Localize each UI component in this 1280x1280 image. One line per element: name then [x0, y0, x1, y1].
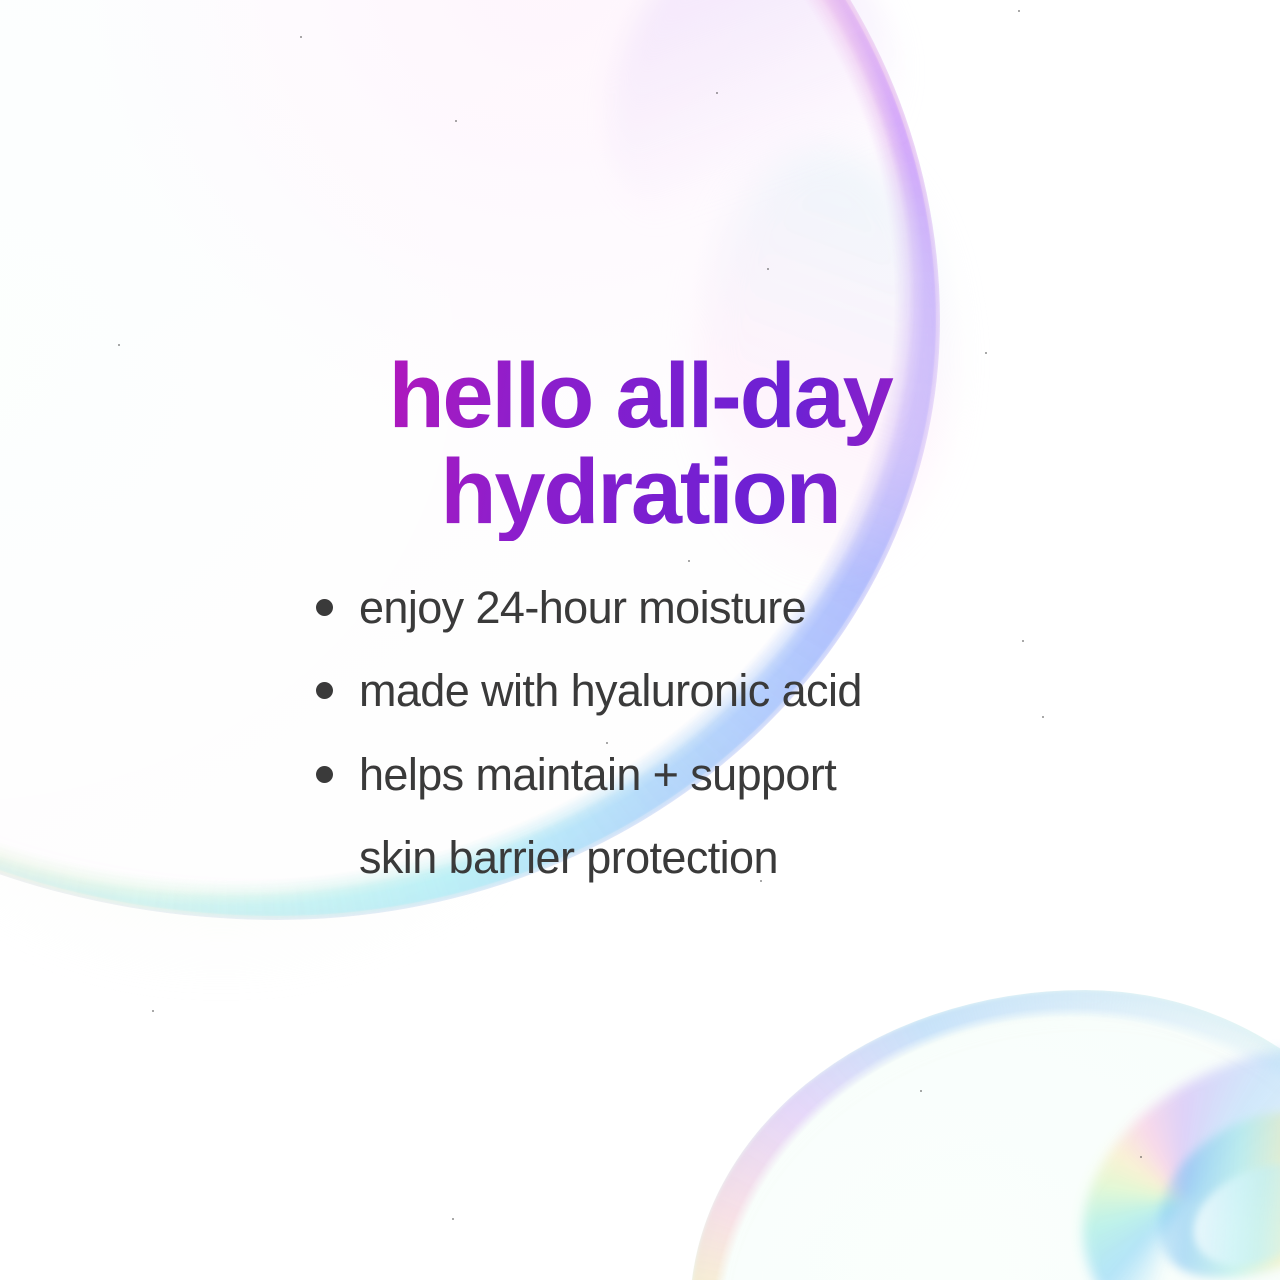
benefit-label: made with hyaluronic acid — [359, 661, 862, 721]
benefit-label: enjoy 24-hour moisture — [359, 578, 806, 638]
benefit-label-continuation: skin barrier protection — [359, 828, 778, 888]
list-item: enjoy 24-hour moisture — [316, 578, 1076, 638]
content-layer: hello all-day hydration enjoy 24-hour mo… — [0, 0, 1280, 1280]
bullet-dot-icon — [316, 599, 333, 616]
benefit-list: enjoy 24-hour moisture made with hyaluro… — [316, 578, 1076, 911]
bullet-dot-icon — [316, 766, 333, 783]
list-item-continuation: skin barrier protection — [316, 828, 1076, 888]
bullet-dot-icon — [316, 682, 333, 699]
page-title: hello all-day hydration — [0, 348, 1280, 541]
list-item: helps maintain + support — [316, 745, 1076, 805]
bullet-dot-spacer — [316, 849, 333, 866]
marketing-graphic-canvas: hello all-day hydration enjoy 24-hour mo… — [0, 0, 1280, 1280]
list-item: made with hyaluronic acid — [316, 661, 1076, 721]
benefit-label: helps maintain + support — [359, 745, 836, 805]
